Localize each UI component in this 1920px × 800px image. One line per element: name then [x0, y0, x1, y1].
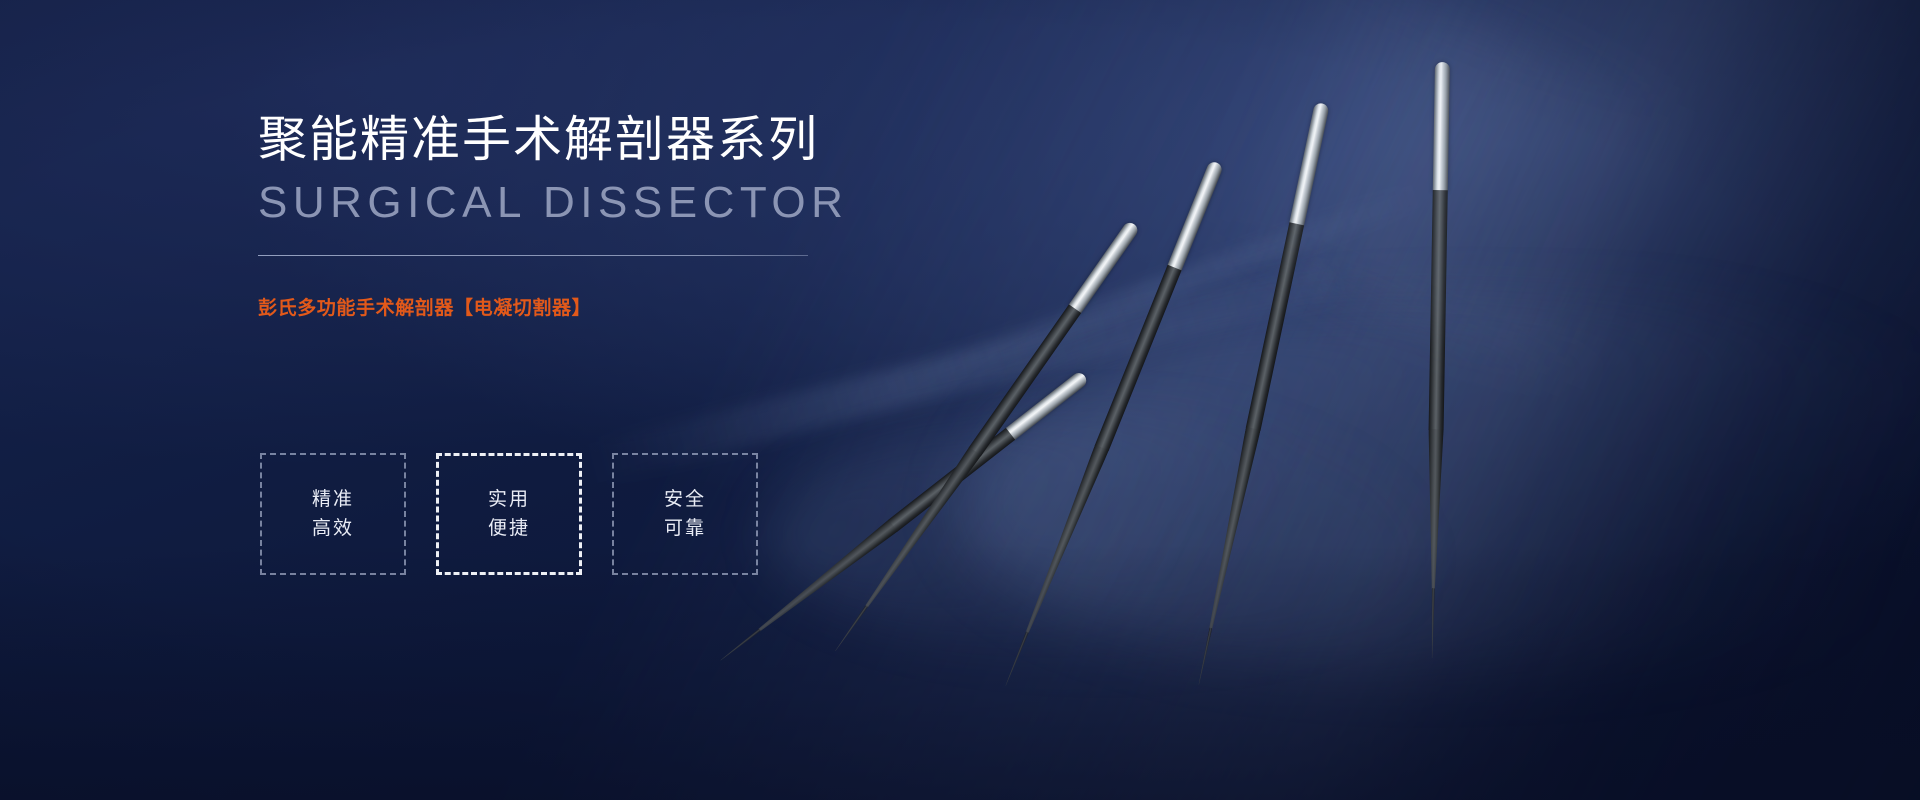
feature-label-line1: 精准 [312, 490, 354, 509]
feature-label-line2: 便捷 [488, 519, 530, 538]
banner-copy: 聚能精准手术解剖器系列 SURGICAL DISSECTOR 彭氏多功能手术解剖… [258, 112, 878, 320]
product-name-label: 彭氏多功能手术解剖器【电凝切割器】 [258, 293, 878, 320]
feature-label-line2: 可靠 [664, 519, 706, 538]
product-banner: 聚能精准手术解剖器系列 SURGICAL DISSECTOR 彭氏多功能手术解剖… [0, 0, 1920, 800]
feature-box-precision[interactable]: 精准 高效 [260, 453, 406, 575]
feature-box-practical[interactable]: 实用 便捷 [436, 453, 582, 575]
feature-box-group: 精准 高效 实用 便捷 安全 可靠 [260, 453, 758, 575]
background-bottom-fade [0, 544, 1920, 800]
feature-box-safety[interactable]: 安全 可靠 [612, 453, 758, 575]
divider [258, 255, 808, 256]
page-title: 聚能精准手术解剖器系列 [258, 112, 878, 170]
feature-label-line1: 安全 [664, 490, 706, 509]
feature-label-line2: 高效 [312, 519, 354, 538]
feature-label-line1: 实用 [488, 490, 530, 509]
page-subtitle-english: SURGICAL DISSECTOR [258, 178, 878, 229]
